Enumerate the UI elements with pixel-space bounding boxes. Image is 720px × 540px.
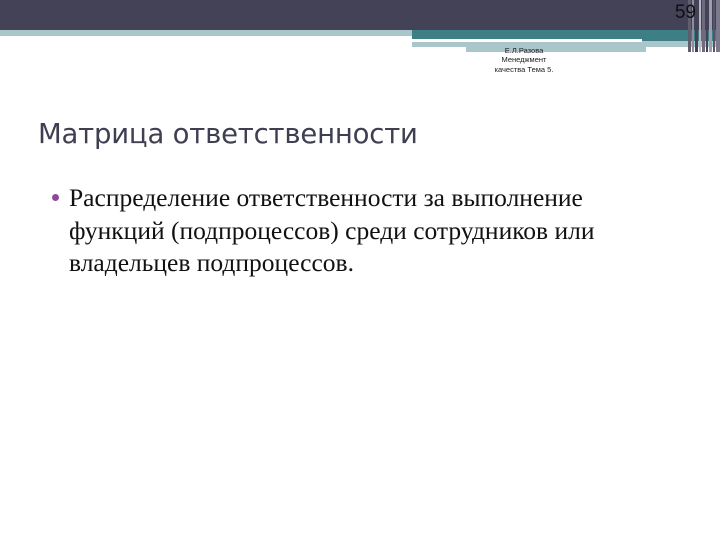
- header-caption-line-2: Менеджмент: [414, 55, 634, 64]
- presentation-slide: 59 Е.Л.Разова Менеджмент качества Тема 5…: [0, 0, 720, 540]
- header-stripe-6: [709, 0, 712, 52]
- page-number: 59: [675, 2, 696, 24]
- slide-body: Распределение ответственности за выполне…: [52, 182, 672, 280]
- header-gap-line: [412, 39, 642, 42]
- bullet-list-item: Распределение ответственности за выполне…: [52, 182, 672, 280]
- header-left-white-cut: [0, 41, 412, 47]
- header-stripe-3: [699, 0, 701, 52]
- bullet-item-text: Распределение ответственности за выполне…: [69, 182, 672, 280]
- header-caption: Е.Л.Разова Менеджмент качества Тема 5.: [414, 46, 634, 74]
- bullet-dot-icon: [52, 182, 69, 201]
- header-stripe-7: [713, 0, 715, 52]
- header-caption-line-1: Е.Л.Разова: [414, 46, 634, 55]
- slide-title: Матрица ответственности: [38, 117, 678, 151]
- header-stripe-8: [716, 0, 720, 52]
- header-dark-band: [0, 0, 720, 30]
- header-stripe-5: [706, 0, 708, 52]
- header-caption-line-3: качества Тема 5.: [414, 65, 634, 74]
- header-stripe-4: [702, 0, 705, 52]
